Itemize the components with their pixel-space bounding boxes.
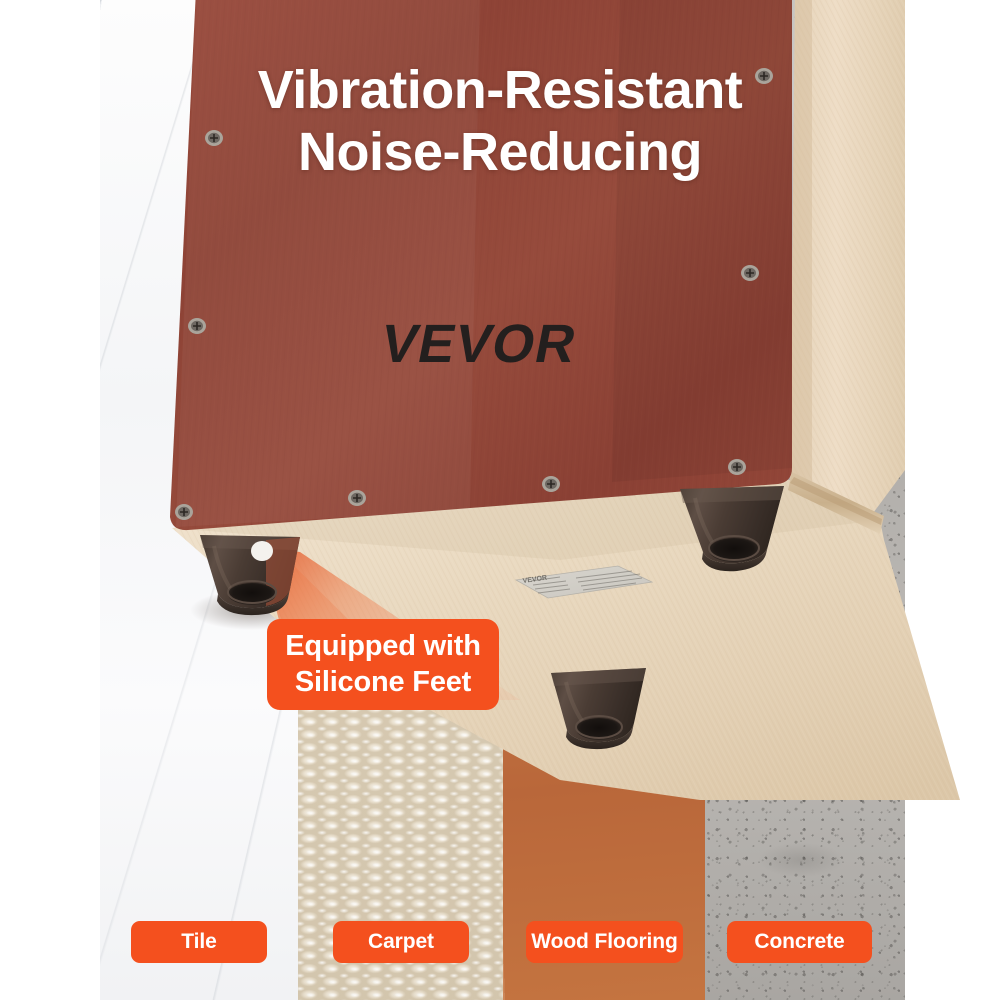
floor-badge-tile: Tile: [131, 921, 267, 963]
floor-badge-concrete: Concrete: [727, 921, 872, 963]
headline-line-2: Noise-Reducing: [0, 122, 1000, 184]
feature-badge-line-2: Silicone Feet: [295, 665, 471, 700]
floor-badge-carpet: Carpet: [333, 921, 469, 963]
feature-badge-silicone-feet: Equipped with Silicone Feet: [267, 619, 499, 710]
floor-badge-wood-flooring: Wood Flooring: [526, 921, 683, 963]
feature-badge-line-1: Equipped with: [285, 629, 481, 664]
product-feature-image: VEVOR VEVOR: [0, 0, 1000, 1000]
headline-line-1: Vibration-Resistant: [0, 60, 1000, 122]
